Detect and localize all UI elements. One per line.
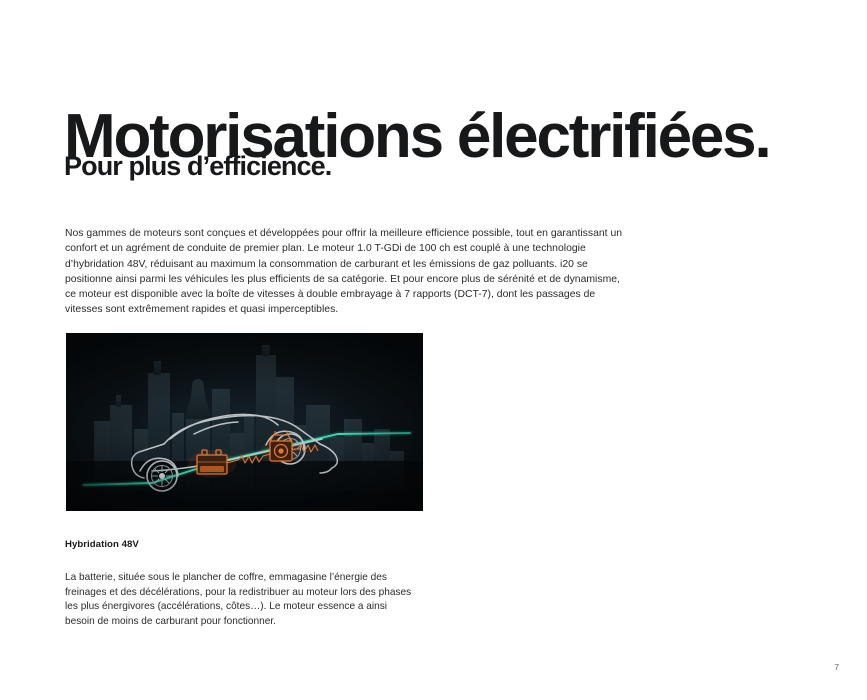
intro-paragraph: Nos gammes de moteurs sont conçues et dé… <box>65 226 625 317</box>
figure-illustration <box>66 333 423 511</box>
page-subtitle: Pour plus d’efficience. <box>64 150 331 182</box>
page-number: 7 <box>834 662 839 672</box>
hybrid-drivetrain-figure <box>66 333 423 511</box>
caption-body: La batterie, située sous le plancher de … <box>65 571 415 629</box>
brochure-page: Motorisations électrifiées. Pour plus d’… <box>0 0 867 700</box>
caption-heading: Hybridation 48V <box>65 538 139 551</box>
